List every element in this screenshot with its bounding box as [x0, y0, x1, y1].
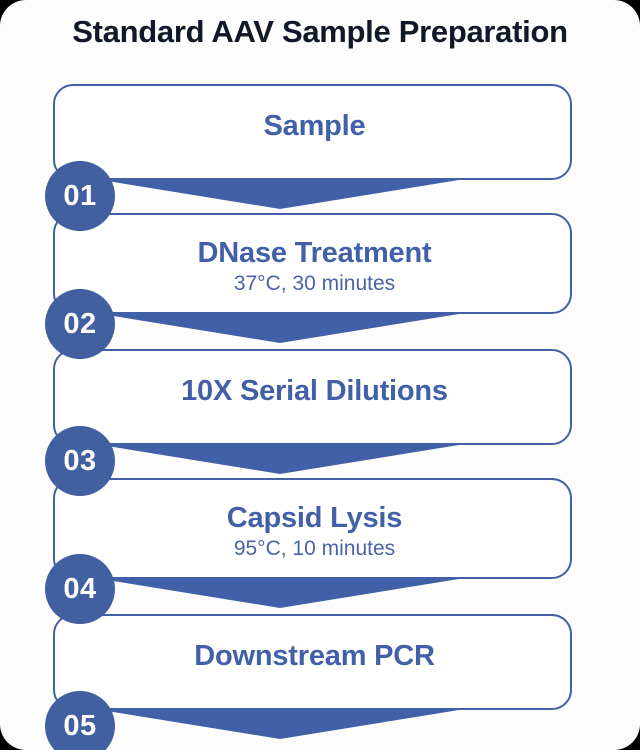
down-arrow-icon: [95, 313, 465, 343]
page-title: Standard AAV Sample Preparation: [0, 14, 640, 50]
step-number-badge: 03: [45, 426, 115, 496]
down-arrow-icon: [95, 578, 465, 608]
down-arrow-icon: [95, 709, 465, 739]
step-label: Sample: [110, 110, 519, 142]
step-text-group: Sample: [110, 110, 519, 142]
step-number-badge: 04: [45, 554, 115, 624]
step-number-badge: 02: [45, 289, 115, 359]
step-text-group: Capsid Lysis 95°C, 10 minutes: [110, 502, 519, 562]
step-text-group: Downstream PCR: [110, 640, 519, 672]
step-label: Downstream PCR: [110, 640, 519, 672]
step-sublabel: 37°C, 30 minutes: [110, 271, 519, 296]
down-arrow-icon: [95, 444, 465, 474]
step-text-group: 10X Serial Dilutions: [110, 375, 519, 407]
step-number-badge: 01: [45, 161, 115, 231]
step-text-group: DNase Treatment 37°C, 30 minutes: [110, 237, 519, 297]
step-label: Capsid Lysis: [110, 502, 519, 534]
down-arrow-icon: [95, 179, 465, 209]
step-sublabel: 95°C, 10 minutes: [110, 536, 519, 561]
step-label: 10X Serial Dilutions: [110, 375, 519, 407]
flowchart-page: Standard AAV Sample Preparation 01 Sampl…: [0, 0, 640, 750]
step-label: DNase Treatment: [110, 237, 519, 269]
